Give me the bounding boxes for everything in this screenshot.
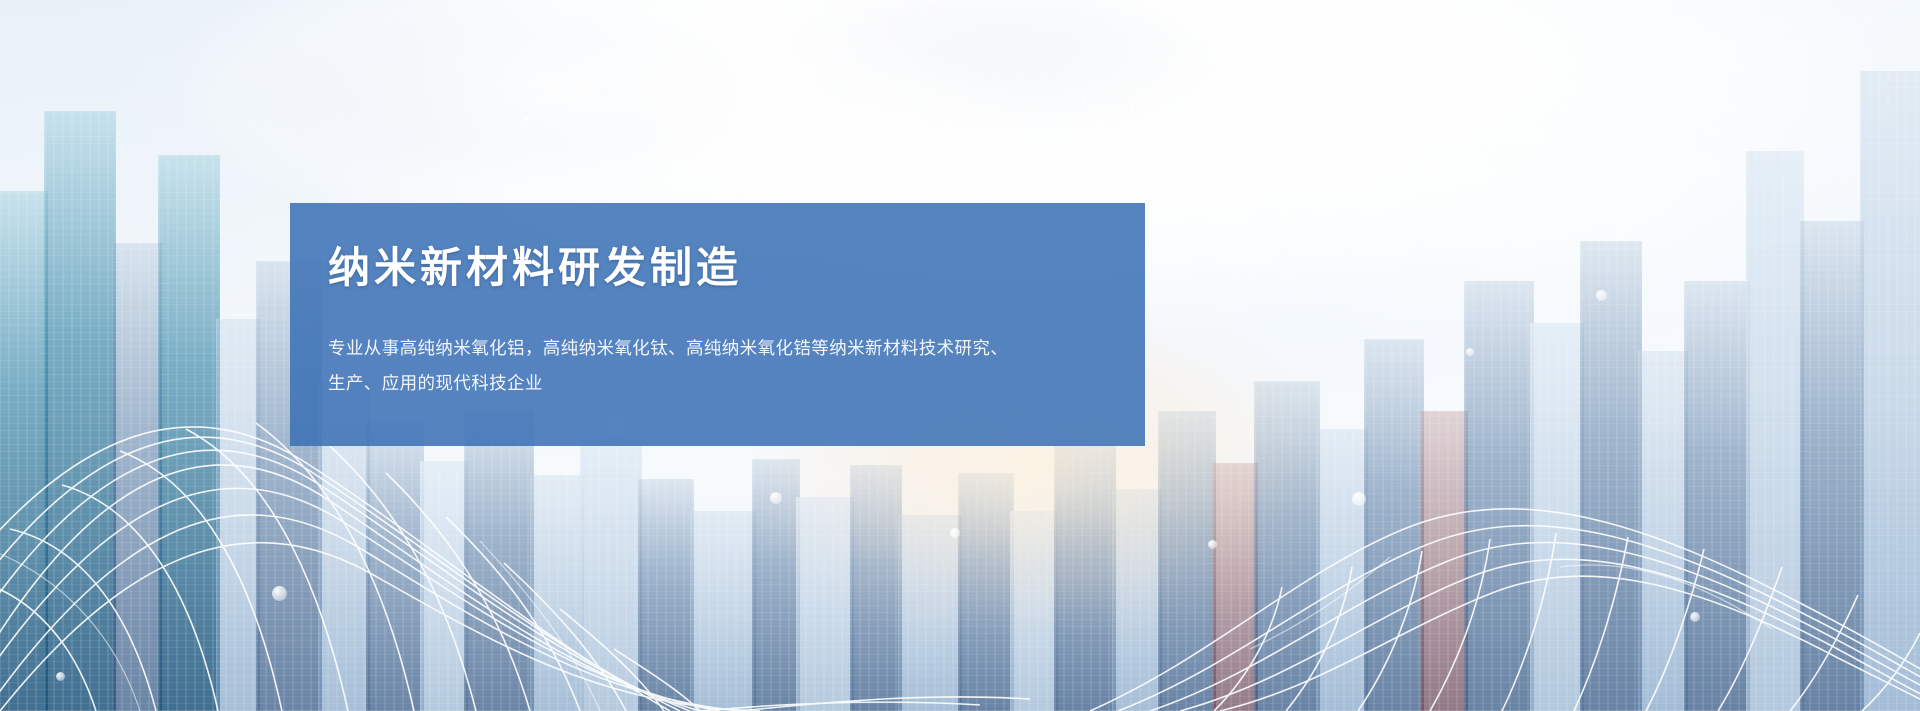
building (216, 319, 260, 711)
building (638, 479, 694, 711)
building (1746, 151, 1804, 711)
banner-title: 纳米新材料研发制造 (328, 243, 1099, 293)
building (530, 475, 584, 711)
building (0, 191, 48, 711)
building (580, 439, 642, 711)
building (366, 421, 424, 711)
caption-panel: 纳米新材料研发制造 专业从事高纯纳米氧化铝，高纯纳米氧化钛、高纯纳米氧化锆等纳米… (290, 203, 1145, 446)
bokeh-dot (950, 528, 960, 538)
banner-subtitle-line-1: 专业从事高纯纳米氧化铝，高纯纳米氧化钛、高纯纳米氧化锆等纳米新材料技术研究、 (328, 331, 1099, 366)
banner-subtitle: 专业从事高纯纳米氧化铝，高纯纳米氧化钛、高纯纳米氧化锆等纳米新材料技术研究、 生… (328, 331, 1099, 401)
building (464, 411, 534, 711)
banner-subtitle-line-2: 生产、应用的现代科技企业 (328, 366, 1099, 401)
building (44, 111, 116, 711)
building (112, 243, 162, 711)
bokeh-dot (1352, 492, 1366, 506)
building (1316, 429, 1368, 711)
bokeh-dot (56, 672, 65, 681)
building (1420, 411, 1468, 711)
building (420, 461, 468, 711)
building (1684, 281, 1750, 711)
building (1530, 323, 1584, 711)
building (1638, 351, 1688, 711)
bokeh-dot (1596, 290, 1607, 301)
building (158, 155, 220, 711)
bokeh-dot (1466, 348, 1474, 356)
bokeh-dot (1690, 612, 1700, 622)
building (1464, 281, 1534, 711)
building (1364, 339, 1424, 711)
bokeh-dot (1208, 540, 1217, 549)
building (1800, 221, 1864, 711)
bokeh-dot (272, 586, 287, 601)
hero-banner: 纳米新材料研发制造 专业从事高纯纳米氧化铝，高纯纳米氧化钛、高纯纳米氧化锆等纳米… (0, 0, 1920, 711)
bokeh-dot (524, 116, 531, 123)
building (1860, 71, 1920, 711)
building (690, 511, 756, 711)
bokeh-dot (770, 492, 782, 504)
building (1580, 241, 1642, 711)
